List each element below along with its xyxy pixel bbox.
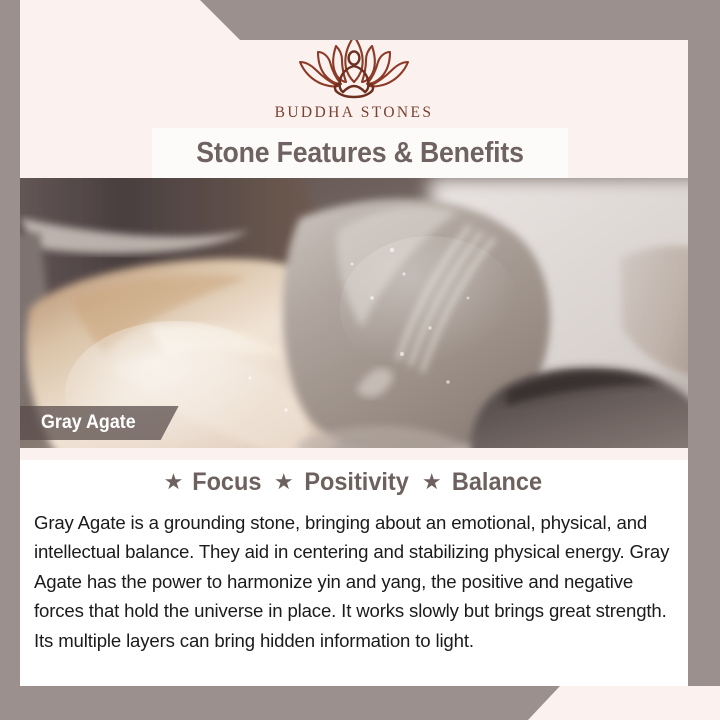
- title-band: Stone Features & Benefits: [152, 128, 568, 178]
- star-icon: ★: [422, 471, 442, 493]
- cream-divider: [20, 448, 688, 460]
- keyword-label: Focus: [193, 468, 262, 497]
- keyword-item-positivity: ★ Positivity: [274, 468, 412, 497]
- frame-left: [0, 0, 20, 720]
- brand-name: BUDDHA STONES: [275, 104, 434, 122]
- stone-description-panel: ★ Focus ★ Positivity ★ Balance Gray Agat…: [20, 460, 688, 686]
- keyword-item-focus: ★ Focus: [164, 468, 264, 497]
- keyword-label: Positivity: [304, 468, 408, 497]
- keyword-item-balance: ★ Balance: [422, 468, 545, 497]
- stone-name-banner: Gray Agate: [20, 406, 179, 440]
- stone-description-text: Gray Agate is a grounding stone, bringin…: [20, 504, 688, 655]
- star-icon: ★: [274, 471, 294, 493]
- stone-photo: Gray Agate: [0, 178, 720, 448]
- stone-info-card: BUDDHA STONES Stone Features & Benefits: [0, 0, 720, 720]
- frame-right: [688, 0, 720, 686]
- keyword-label: Balance: [451, 468, 541, 497]
- star-icon: ★: [164, 471, 184, 493]
- stone-name: Gray Agate: [41, 412, 136, 434]
- page-title: Stone Features & Benefits: [196, 137, 524, 170]
- keyword-list: ★ Focus ★ Positivity ★ Balance: [20, 460, 688, 504]
- brand-logo: BUDDHA STONES: [20, 28, 688, 138]
